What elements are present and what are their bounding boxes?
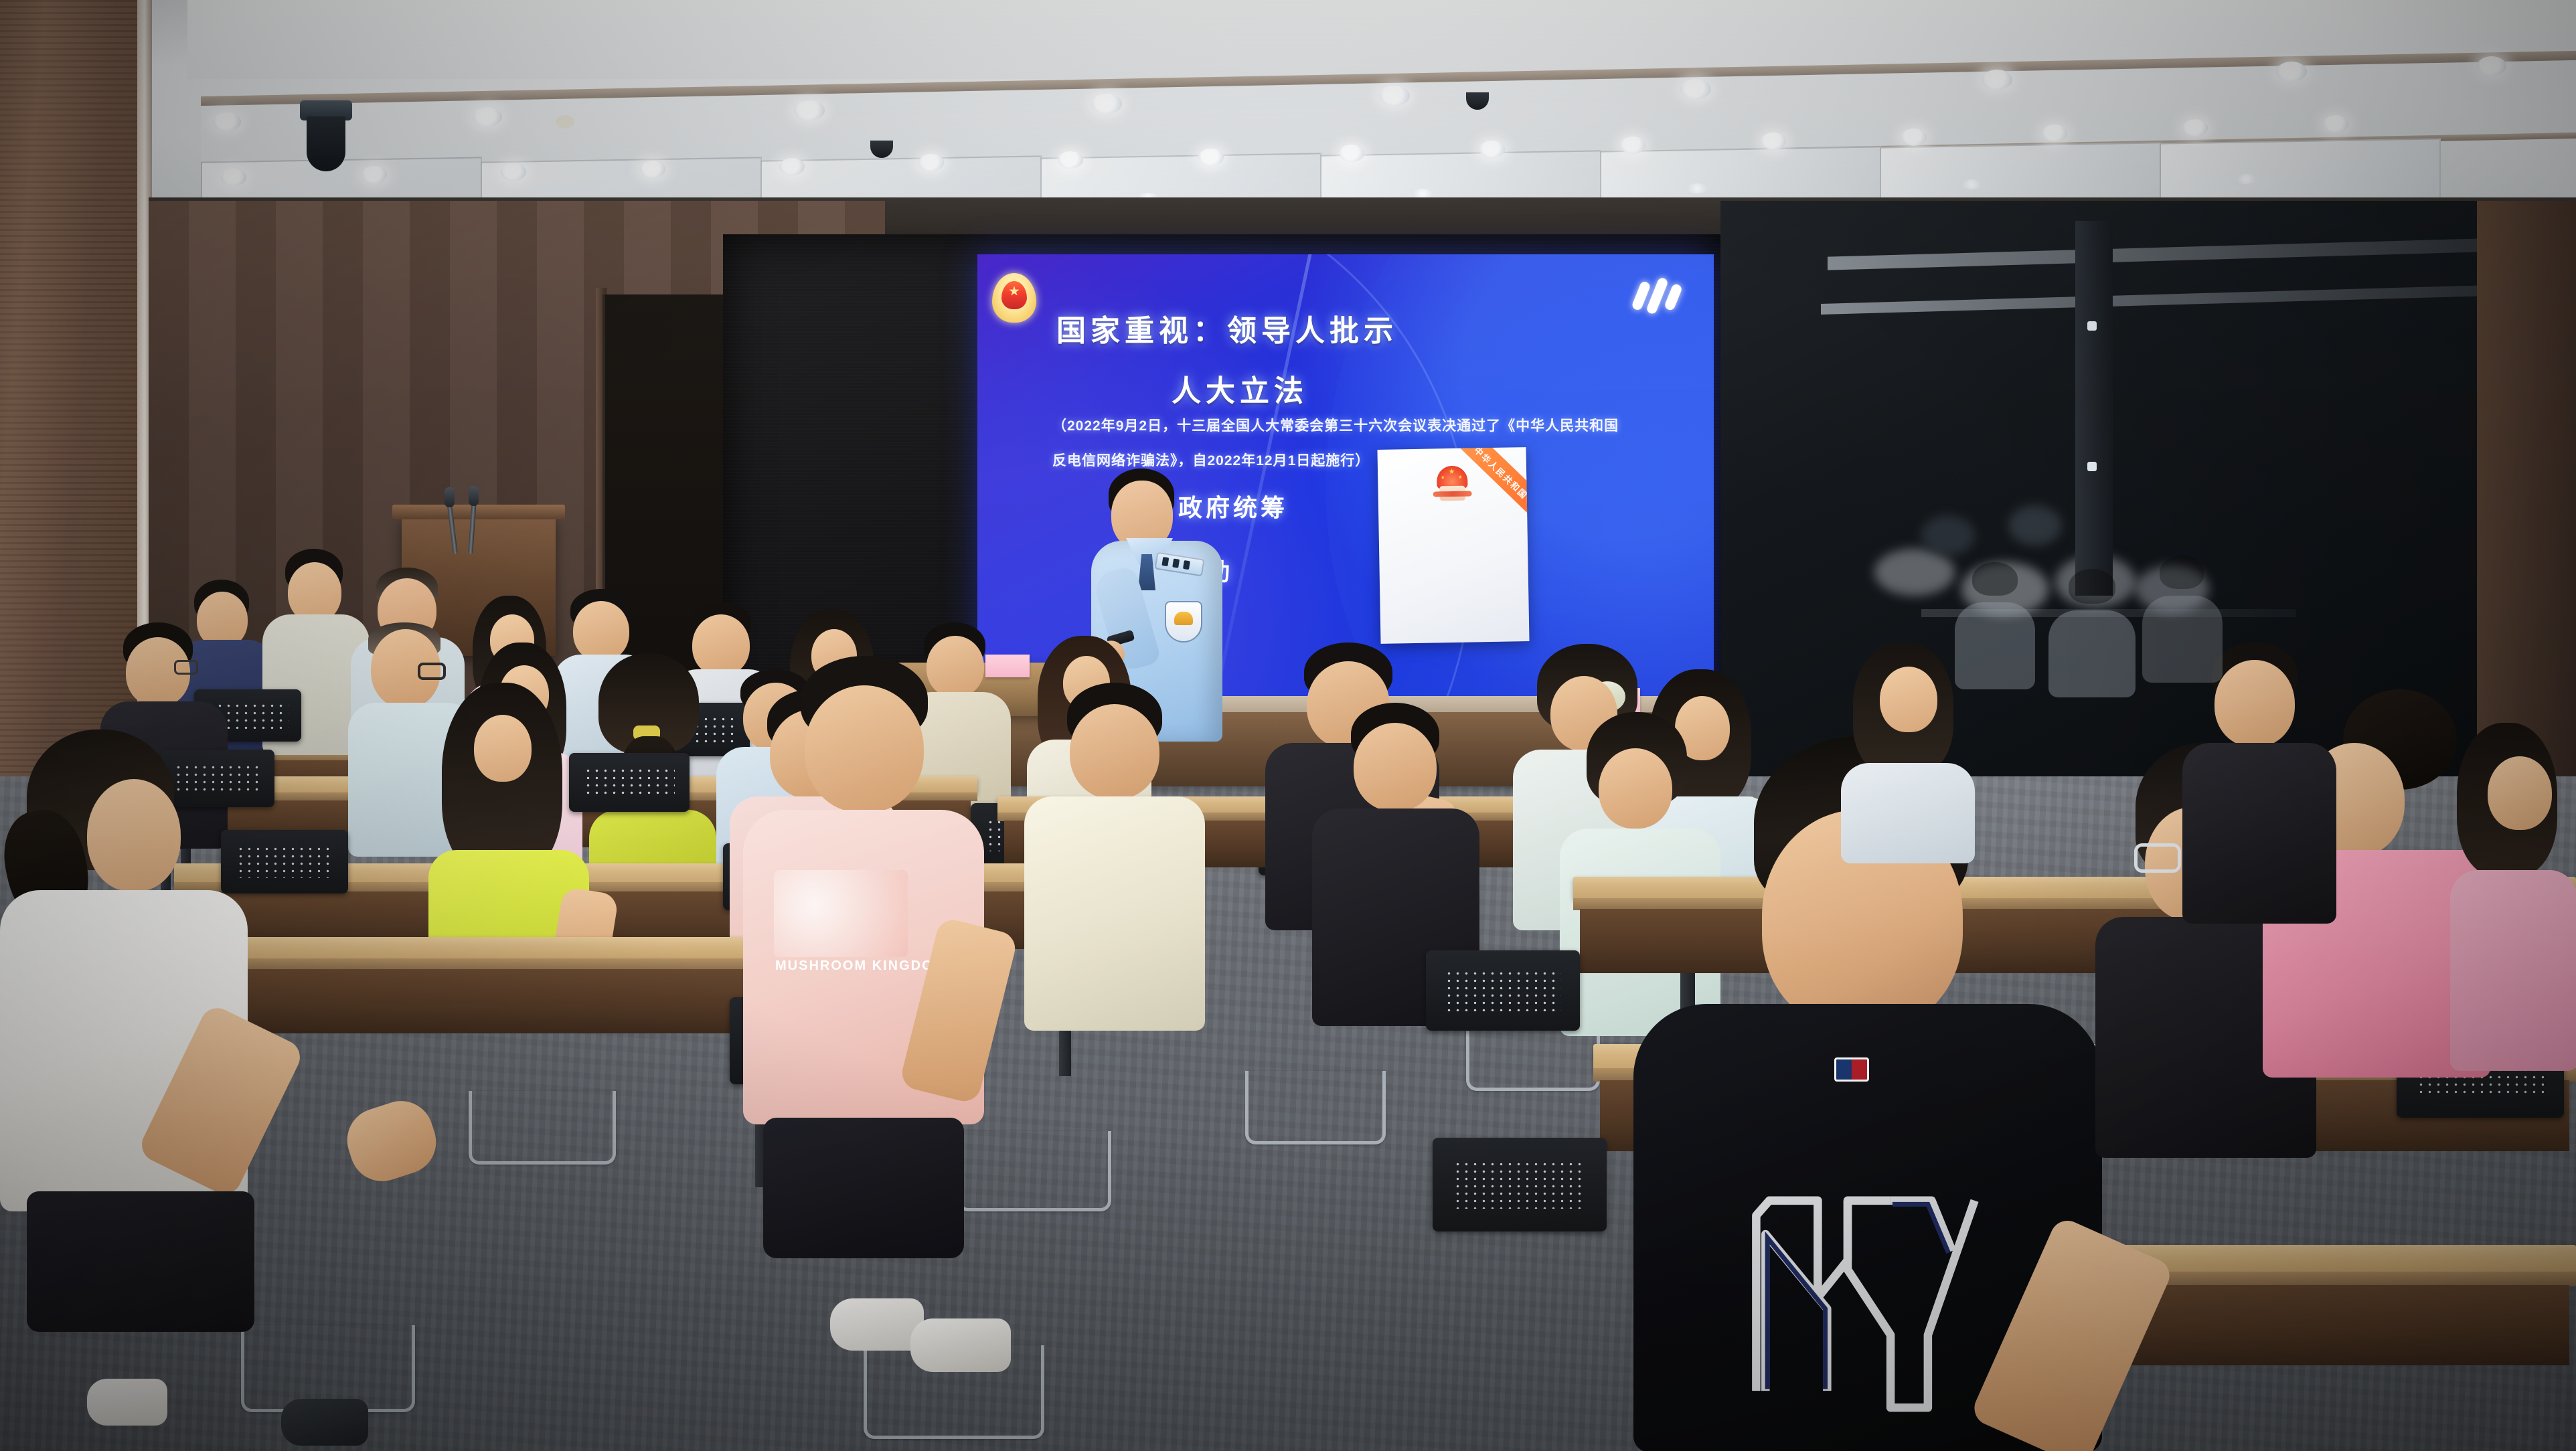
flush-light xyxy=(2236,174,2256,184)
downlight xyxy=(2042,124,2067,142)
slide-heading-1: 国家重视：领导人批示 xyxy=(1056,307,1398,349)
ceiling xyxy=(0,0,2576,221)
national-emblem-icon xyxy=(1431,465,1473,505)
chair[interactable] xyxy=(1426,950,1580,1031)
police-shoulder-patch-icon xyxy=(1166,602,1201,641)
right-wood-pillar xyxy=(2477,201,2576,803)
glass-column-light xyxy=(2087,321,2097,331)
audience-member xyxy=(1024,683,1205,1031)
conference-room-photo: 国家重视：领导人批示 人大立法 （2022年9月2日，十三届全国人大常委会第三十… xyxy=(0,0,2576,1451)
downlight xyxy=(1680,79,1711,99)
flush-light xyxy=(1687,183,1707,193)
ceiling-dome-camera-icon xyxy=(300,100,352,174)
slide-paragraph-line-1: （2022年9月2日，十三届全国人大常委会第三十六次会议表决通过了《中华人民共和… xyxy=(1052,415,1619,435)
downlight xyxy=(1901,129,1927,146)
shoe xyxy=(910,1318,1011,1372)
chair[interactable] xyxy=(1433,1138,1607,1231)
slide-document-image: 中华人民共和国 xyxy=(1377,447,1529,644)
microphone-head-icon xyxy=(469,486,479,506)
audience-member xyxy=(2450,723,2576,1071)
shoe xyxy=(830,1298,924,1351)
downlight xyxy=(2477,56,2506,76)
tshirt-graphic xyxy=(774,870,908,957)
downlight xyxy=(2323,115,2348,133)
glass-wall-column xyxy=(2075,221,2113,596)
eyeglasses-icon xyxy=(418,663,446,680)
reflected-audience xyxy=(2142,556,2223,683)
smoke-detector-icon xyxy=(556,115,574,129)
reflected-audience xyxy=(2048,569,2136,696)
slash-logo-icon xyxy=(1635,277,1686,317)
audience-member: MUSHROOM KINGDOM xyxy=(743,656,984,1258)
slide-paragraph-line-2: 反电信网络诈骗法》，自2022年12月1日起施行） xyxy=(1052,450,1370,470)
downlight xyxy=(640,161,665,178)
slide-heading-2: 人大立法 xyxy=(1172,367,1308,410)
downlight xyxy=(501,163,526,181)
shoe xyxy=(281,1399,368,1446)
audience-member xyxy=(2182,643,2336,924)
downlight xyxy=(794,100,825,120)
downlight xyxy=(2182,119,2208,137)
mlb-logo-icon xyxy=(1834,1057,1869,1082)
chair-sled-base xyxy=(469,1091,616,1165)
audience-member xyxy=(0,730,268,1332)
downlight xyxy=(1198,149,1224,166)
police-badge-icon xyxy=(992,273,1036,323)
downlight xyxy=(1058,151,1083,169)
downlight xyxy=(1379,86,1410,106)
flush-light xyxy=(1961,179,1982,189)
downlight xyxy=(361,166,387,183)
downlight xyxy=(1339,145,1364,162)
eyeglasses-icon xyxy=(174,660,198,675)
downlight xyxy=(1620,137,1645,154)
downlight xyxy=(221,169,246,186)
downlight xyxy=(779,158,805,175)
downlight xyxy=(918,154,944,171)
ny-yankees-logo-icon xyxy=(1707,1111,1988,1419)
downlight xyxy=(2276,62,2307,82)
shoe xyxy=(87,1379,167,1426)
downlight xyxy=(1761,133,1786,150)
downlight xyxy=(473,107,502,126)
chair-sled-base xyxy=(1245,1071,1386,1144)
downlight xyxy=(1479,141,1505,158)
downlight xyxy=(213,112,241,131)
eyeglasses-icon xyxy=(2134,843,2181,873)
ribbon-label: 中华人民共和国 xyxy=(1472,447,1530,501)
tshirt-graphic-text: MUSHROOM KINGDOM xyxy=(775,958,929,974)
downlight xyxy=(1982,70,2012,90)
glass-column-light xyxy=(2087,462,2097,471)
microphone-head-icon xyxy=(445,487,455,507)
downlight xyxy=(1091,94,1122,114)
reflected-audience xyxy=(1955,562,2035,689)
